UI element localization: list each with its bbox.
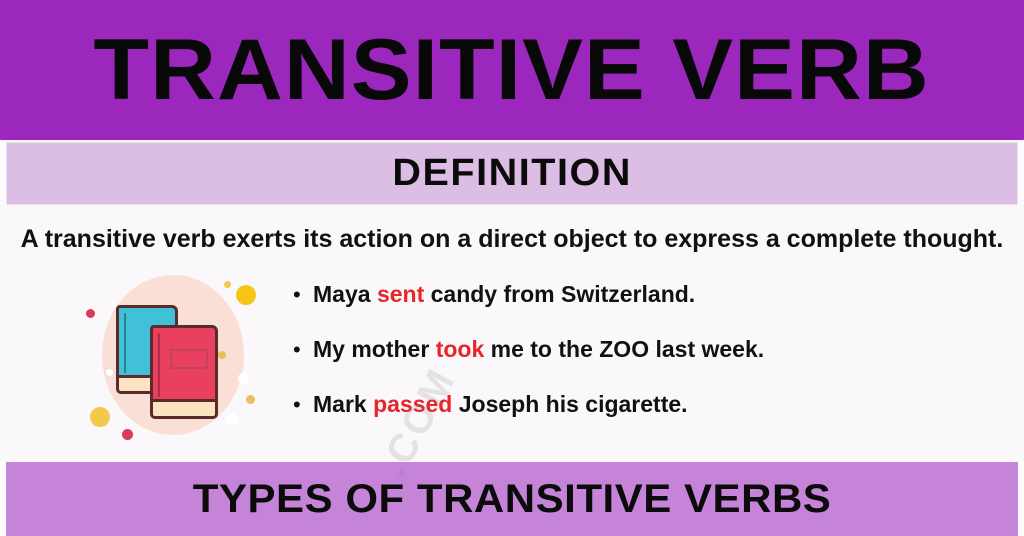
example-sentence: Maya sent candy from Switzerland.	[313, 281, 695, 308]
definition-heading-band: DEFINITION	[6, 142, 1018, 205]
book-back-spine	[124, 313, 126, 373]
decorative-dot	[218, 351, 226, 359]
sentence-prefix: Mark	[313, 391, 373, 417]
transitive-verb: sent	[377, 281, 424, 307]
decorative-dot	[224, 281, 231, 288]
decorative-dot	[90, 407, 110, 427]
infographic-page: TRANSITIVE VERB DEFINITION A transitive …	[0, 0, 1024, 536]
sentence-prefix: Maya	[313, 281, 377, 307]
types-heading: TYPES OF TRANSITIVE VERBS	[193, 477, 832, 522]
sentence-prefix: My mother	[313, 336, 436, 362]
book-front-spine	[158, 333, 160, 397]
page-title: TRANSITIVE VERB	[94, 27, 930, 113]
example-item: •My mother took me to the ZOO last week.	[293, 336, 993, 391]
transitive-verb: passed	[373, 391, 452, 417]
title-banner: TRANSITIVE VERB	[0, 0, 1024, 140]
decorative-dot	[236, 285, 256, 305]
decorative-dot	[86, 309, 95, 318]
examples-list: •Maya sent candy from Switzerland.•My mo…	[293, 281, 993, 446]
bullet-icon: •	[293, 394, 313, 416]
example-sentence: My mother took me to the ZOO last week.	[313, 336, 764, 363]
content-area: A transitive verb exerts its action on a…	[0, 205, 1024, 462]
types-band: TYPES OF TRANSITIVE VERBS	[6, 462, 1018, 536]
book-front-pages	[150, 399, 218, 419]
example-item: •Mark passed Joseph his cigarette.	[293, 391, 993, 446]
decorative-dot	[122, 429, 133, 440]
example-item: •Maya sent candy from Switzerland.	[293, 281, 993, 336]
definition-heading: DEFINITION	[392, 152, 632, 195]
transitive-verb: took	[436, 336, 485, 362]
sentence-suffix: Joseph his cigarette.	[452, 391, 687, 417]
decorative-dot	[106, 369, 113, 376]
decorative-dot	[246, 395, 255, 404]
example-sentence: Mark passed Joseph his cigarette.	[313, 391, 688, 418]
decorative-dot	[238, 373, 249, 384]
sentence-suffix: me to the ZOO last week.	[484, 336, 764, 362]
book-front-label	[170, 349, 208, 369]
bullet-icon: •	[293, 284, 313, 306]
definition-sentence: A transitive verb exerts its action on a…	[0, 225, 1024, 254]
bullet-icon: •	[293, 339, 313, 361]
books-illustration	[78, 267, 268, 447]
decorative-dot	[226, 413, 238, 425]
sentence-suffix: candy from Switzerland.	[424, 281, 695, 307]
